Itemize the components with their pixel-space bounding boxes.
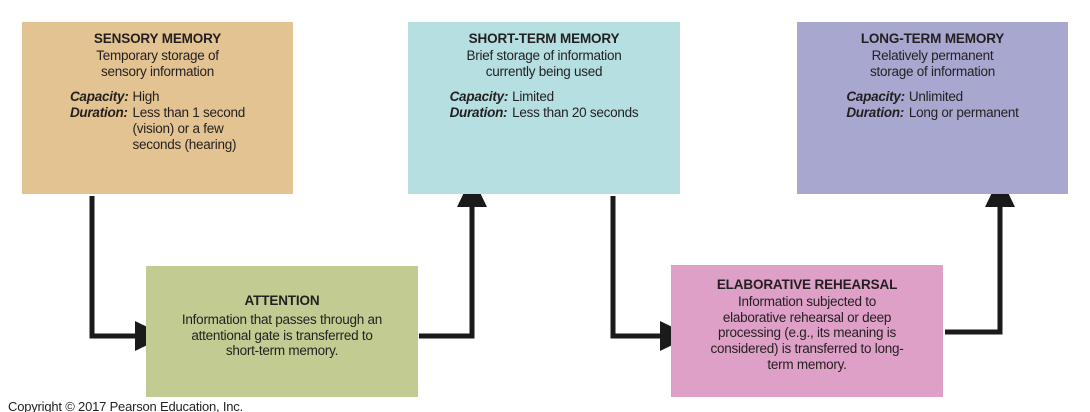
rehearsal-desc-line-5: term memory. [679, 357, 935, 373]
box-attention: ATTENTION Information that passes throug… [146, 266, 418, 397]
long-term-capacity-value: Unlimited [909, 89, 1019, 105]
short-term-attributes: Capacity: Limited Duration: Less than 20… [450, 89, 639, 121]
long-term-duration-line-1: Long or permanent [909, 105, 1019, 121]
short-term-capacity-label: Capacity: [450, 89, 513, 105]
box-long-term-memory-title: LONG-TERM MEMORY [805, 31, 1060, 47]
short-term-capacity-value: Limited [512, 89, 638, 105]
sensory-capacity-value: High [132, 89, 245, 105]
sensory-duration-line-2: (vision) or a few [132, 121, 245, 137]
sensory-desc-line-2: sensory information [30, 64, 285, 80]
box-long-term-memory: LONG-TERM MEMORY Relatively permanent st… [797, 22, 1068, 194]
box-short-term-memory: SHORT-TERM MEMORY Brief storage of infor… [408, 22, 680, 194]
box-sensory-memory-title: SENSORY MEMORY [30, 31, 285, 47]
sensory-duration-row: Duration: Less than 1 second (vision) or… [70, 105, 245, 152]
long-term-duration-row: Duration: Long or permanent [846, 105, 1018, 121]
short-term-desc-line-1: Brief storage of information [416, 48, 672, 64]
long-term-capacity-row: Capacity: Unlimited [846, 89, 1018, 105]
box-long-term-memory-description: Relatively permanent storage of informat… [805, 48, 1060, 80]
rehearsal-desc-line-2: elaborative rehearsal or deep [679, 310, 935, 326]
short-term-capacity-row: Capacity: Limited [450, 89, 639, 105]
box-elaborative-rehearsal-title: ELABORATIVE REHEARSAL [679, 277, 935, 293]
rehearsal-desc-line-4: considered) is transferred to long- [679, 341, 935, 357]
box-elaborative-rehearsal-description: Information subjected to elaborative reh… [679, 294, 935, 373]
sensory-desc-line-1: Temporary storage of [30, 48, 285, 64]
box-short-term-memory-title: SHORT-TERM MEMORY [416, 31, 672, 47]
long-term-duration-label: Duration: [846, 105, 909, 121]
long-term-desc-line-2: storage of information [805, 64, 1060, 80]
sensory-duration-line-3: seconds (hearing) [132, 137, 245, 153]
box-short-term-memory-description: Brief storage of information currently b… [416, 48, 672, 80]
short-term-duration-label: Duration: [450, 105, 513, 121]
attention-desc-line-2: attentional gate is transferred to [154, 328, 410, 344]
rehearsal-desc-line-3: processing (e.g., its meaning is [679, 325, 935, 341]
short-term-duration-line-1: Less than 20 seconds [512, 105, 638, 121]
short-term-duration-value: Less than 20 seconds [512, 105, 638, 121]
box-sensory-memory: SENSORY MEMORY Temporary storage of sens… [22, 22, 293, 194]
box-elaborative-rehearsal: ELABORATIVE REHEARSAL Information subjec… [671, 265, 943, 397]
arrow-short-term-to-rehearsal [613, 196, 663, 336]
rehearsal-desc-line-1: Information subjected to [679, 294, 935, 310]
box-attention-title: ATTENTION [154, 293, 410, 309]
short-term-desc-line-2: currently being used [416, 64, 672, 80]
diagram-canvas: SENSORY MEMORY Temporary storage of sens… [0, 0, 1090, 412]
long-term-desc-line-1: Relatively permanent [805, 48, 1060, 64]
arrow-attention-to-short-term [419, 204, 472, 336]
sensory-attributes: Capacity: High Duration: Less than 1 sec… [70, 89, 245, 152]
attention-desc-line-1: Information that passes through an [154, 312, 410, 328]
long-term-duration-value: Long or permanent [909, 105, 1019, 121]
long-term-capacity-label: Capacity: [846, 89, 909, 105]
sensory-duration-line-1: Less than 1 second [132, 105, 245, 121]
sensory-duration-label: Duration: [70, 105, 133, 152]
sensory-capacity-label: Capacity: [70, 89, 133, 105]
attention-desc-line-3: short-term memory. [154, 343, 410, 359]
long-term-attributes: Capacity: Unlimited Duration: Long or pe… [846, 89, 1018, 121]
sensory-capacity-row: Capacity: High [70, 89, 245, 105]
box-attention-description: Information that passes through an atten… [154, 310, 410, 359]
arrow-rehearsal-to-long-term [945, 204, 1000, 332]
arrow-sensory-to-attention [92, 196, 138, 336]
short-term-duration-row: Duration: Less than 20 seconds [450, 105, 639, 121]
copyright-notice: Copyright © 2017 Pearson Education, Inc. [8, 399, 243, 412]
box-sensory-memory-description: Temporary storage of sensory information [30, 48, 285, 80]
sensory-duration-value: Less than 1 second (vision) or a few sec… [132, 105, 245, 152]
